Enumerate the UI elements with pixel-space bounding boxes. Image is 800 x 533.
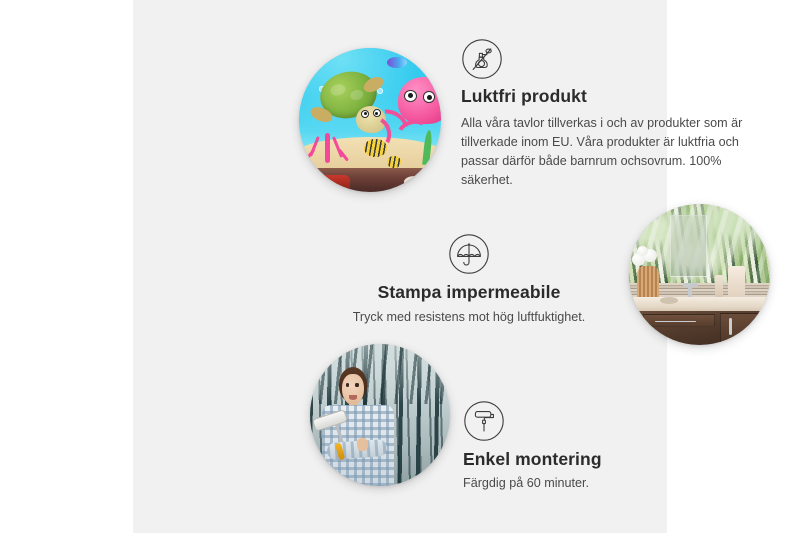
blue-fish xyxy=(387,57,407,69)
paint-roller-icon xyxy=(463,400,505,442)
octopus-head xyxy=(398,77,441,125)
umbrella-icon xyxy=(448,233,490,275)
room-foreground-strip xyxy=(299,168,441,192)
rolled-towel xyxy=(728,266,745,300)
feature-odourless: Luktfri produkt Alla våra tavlor tillver… xyxy=(461,38,761,190)
feature-title: Luktfri produkt xyxy=(461,86,761,108)
forest-wallpaper-photo xyxy=(310,344,450,486)
underwater-scene-artwork xyxy=(299,48,441,192)
bathroom-mirror xyxy=(670,215,707,277)
face xyxy=(342,374,364,405)
woman-figure xyxy=(318,367,402,486)
feature-waterproof: Stampa impermeabile Tryck med resistens … xyxy=(347,233,591,327)
wood-vanity-cabinet xyxy=(637,311,770,345)
yellow-fish xyxy=(387,156,401,168)
bathroom-leaf-wallpaper-circle xyxy=(629,204,770,345)
promo-banner: Luktfri produkt Alla våra tavlor tillver… xyxy=(0,0,800,533)
feature-title: Stampa impermeabile xyxy=(347,282,591,304)
smile xyxy=(349,395,357,399)
bathroom-photo xyxy=(629,204,770,345)
vanity-door xyxy=(720,313,767,345)
underwater-kids-mural-circle xyxy=(299,48,441,192)
pink-coral xyxy=(308,126,351,163)
octopus-eye xyxy=(404,90,417,102)
vanity-drawer xyxy=(643,314,715,327)
feature-body: Tryck med resistens mot hög luftfuktighe… xyxy=(347,308,591,327)
woman-with-paint-roller-forest-circle xyxy=(310,344,450,486)
no-fragrance-spray-bottle-icon xyxy=(461,38,503,80)
soap-bottle xyxy=(715,275,723,299)
feature-body: Färgdig på 60 minuter. xyxy=(463,474,723,493)
feature-title: Enkel montering xyxy=(463,449,723,471)
content-panel: Luktfri produkt Alla våra tavlor tillver… xyxy=(133,0,667,533)
feature-body: Alla våra tavlor tillverkas i och av pro… xyxy=(461,114,761,191)
feature-mounting: Enkel montering Färgdig på 60 minuter. xyxy=(463,400,723,493)
eye xyxy=(355,383,358,386)
